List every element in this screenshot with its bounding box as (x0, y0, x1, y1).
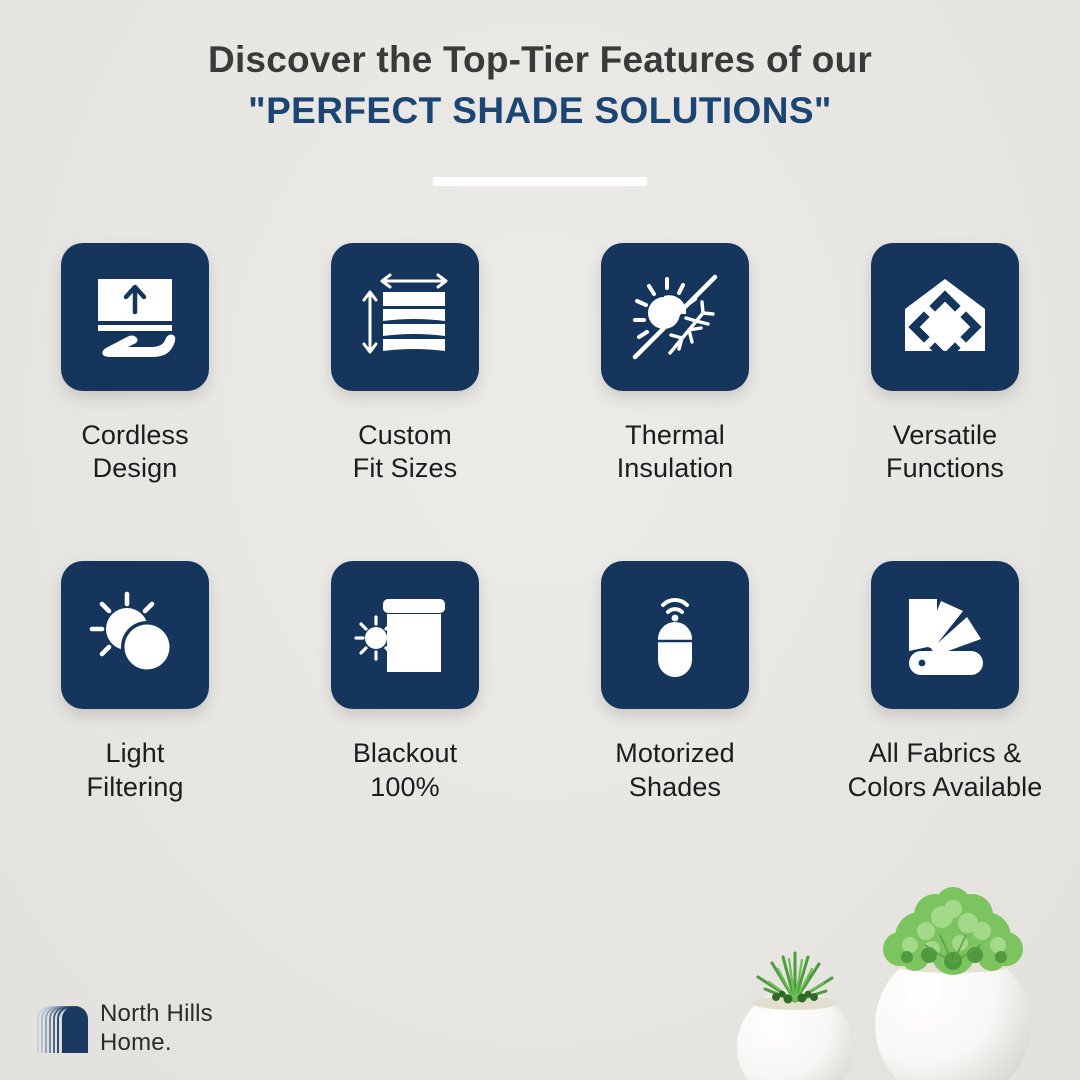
feature-icon-tile (331, 561, 479, 709)
remote-control-with-signal-icon (623, 583, 727, 687)
feature-item-motorized-shades[interactable]: Motorized Shades (540, 561, 810, 803)
divider-bar (433, 177, 647, 186)
feature-label: Versatile Functions (886, 419, 1004, 485)
feature-icon-tile (871, 561, 1019, 709)
two-potted-plants-photo (720, 865, 1080, 1080)
feature-label: Thermal Insulation (617, 419, 734, 485)
shade-with-moon-and-sun-icon (353, 583, 457, 687)
feature-label: Custom Fit Sizes (353, 419, 457, 485)
feature-icon-tile (871, 243, 1019, 391)
feature-item-light-filtering[interactable]: Light Filtering (0, 561, 270, 803)
header: Discover the Top-Tier Features of our "P… (0, 0, 1080, 186)
feature-item-versatile-functions[interactable]: Versatile Functions (810, 243, 1080, 485)
blind-with-up-arrow-and-hand-icon (83, 265, 187, 369)
feature-icon-tile (61, 243, 209, 391)
feature-label: All Fabrics & Colors Available (848, 737, 1043, 803)
page-title-line-2: "PERFECT SHADE SOLUTIONS" (0, 87, 1080, 134)
pleated-blind-with-measure-arrows-icon (353, 265, 457, 369)
brand-name: North Hills Home. (100, 1000, 213, 1057)
feature-icon-tile (61, 561, 209, 709)
feature-icon-tile (331, 243, 479, 391)
feature-label: Motorized Shades (615, 737, 734, 803)
sun-and-snowflake-split-icon (623, 265, 727, 369)
feature-item-cordless-design[interactable]: Cordless Design (0, 243, 270, 485)
sun-behind-circle-icon (83, 583, 187, 687)
feature-item-custom-fit-sizes[interactable]: Custom Fit Sizes (270, 243, 540, 485)
page-title-line-1: Discover the Top-Tier Features of our (0, 36, 1080, 83)
feature-icon-tile (601, 561, 749, 709)
color-swatch-fan-icon (893, 583, 997, 687)
brand-logo[interactable]: North Hills Home. (36, 999, 213, 1058)
feature-label: Light Filtering (87, 737, 184, 803)
feature-label: Cordless Design (81, 419, 188, 485)
feature-item-blackout-100[interactable]: Blackout 100% (270, 561, 540, 803)
feature-icon-tile (601, 243, 749, 391)
nested-arches-logo-mark (36, 999, 88, 1058)
feature-item-thermal-insulation[interactable]: Thermal Insulation (540, 243, 810, 485)
house-with-diamond-icon (893, 265, 997, 369)
feature-item-fabrics-colors[interactable]: All Fabrics & Colors Available (810, 561, 1080, 803)
feature-grid: Cordless Design (0, 243, 1080, 804)
feature-label: Blackout 100% (353, 737, 457, 803)
